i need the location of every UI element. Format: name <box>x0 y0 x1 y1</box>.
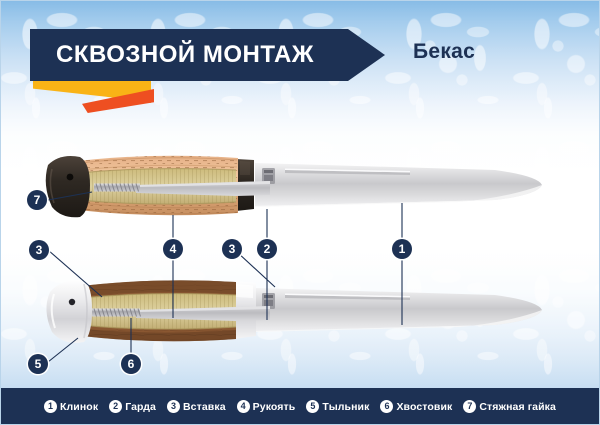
callout-3-left[interactable]: 3 <box>29 240 49 260</box>
legend-badge-6: 6 <box>380 400 393 413</box>
legend-badge-1: 1 <box>44 400 57 413</box>
legend-badge-5: 5 <box>306 400 319 413</box>
legend-item-4[interactable]: 4 Рукоять <box>237 400 296 413</box>
callout-1[interactable]: 1 <box>392 239 412 259</box>
infographic-canvas: СКВОЗНОЙ МОНТАЖ Бекас <box>0 0 600 425</box>
legend-bar: 1 Клинок 2 Гарда 3 Вставка 4 Рукоять 5 Т… <box>0 388 600 425</box>
legend-badge-2: 2 <box>109 400 122 413</box>
callout-4[interactable]: 4 <box>163 239 183 259</box>
legend-item-5[interactable]: 5 Тыльник <box>306 400 369 413</box>
legend-label-3: Вставка <box>183 401 226 413</box>
callout-2[interactable]: 2 <box>257 239 277 259</box>
callout-6[interactable]: 6 <box>121 354 141 374</box>
header-banner-title: СКВОЗНОЙ МОНТАЖ <box>30 41 314 69</box>
legend-badge-4: 4 <box>237 400 250 413</box>
legend-badge-7: 7 <box>463 400 476 413</box>
legend-label-5: Тыльник <box>322 401 369 413</box>
knife-top-illustration <box>40 145 545 225</box>
legend-item-1[interactable]: 1 Клинок <box>44 400 98 413</box>
knife-bottom-illustration <box>40 270 545 350</box>
callout-7[interactable]: 7 <box>27 190 47 210</box>
legend-item-3[interactable]: 3 Вставка <box>167 400 226 413</box>
model-name-label: Бекас <box>413 40 475 64</box>
legend-item-6[interactable]: 6 Хвостовик <box>380 400 452 413</box>
legend-item-2[interactable]: 2 Гарда <box>109 400 156 413</box>
callout-3-right[interactable]: 3 <box>222 239 242 259</box>
legend-label-2: Гарда <box>125 401 156 413</box>
legend-label-6: Хвостовик <box>396 401 452 413</box>
legend-label-7: Стяжная гайка <box>479 401 556 413</box>
legend-item-7[interactable]: 7 Стяжная гайка <box>463 400 556 413</box>
header-banner: СКВОЗНОЙ МОНТАЖ <box>30 29 385 81</box>
legend-badge-3: 3 <box>167 400 180 413</box>
callout-5[interactable]: 5 <box>28 354 48 374</box>
legend-label-4: Рукоять <box>253 401 296 413</box>
legend-label-1: Клинок <box>60 401 98 413</box>
